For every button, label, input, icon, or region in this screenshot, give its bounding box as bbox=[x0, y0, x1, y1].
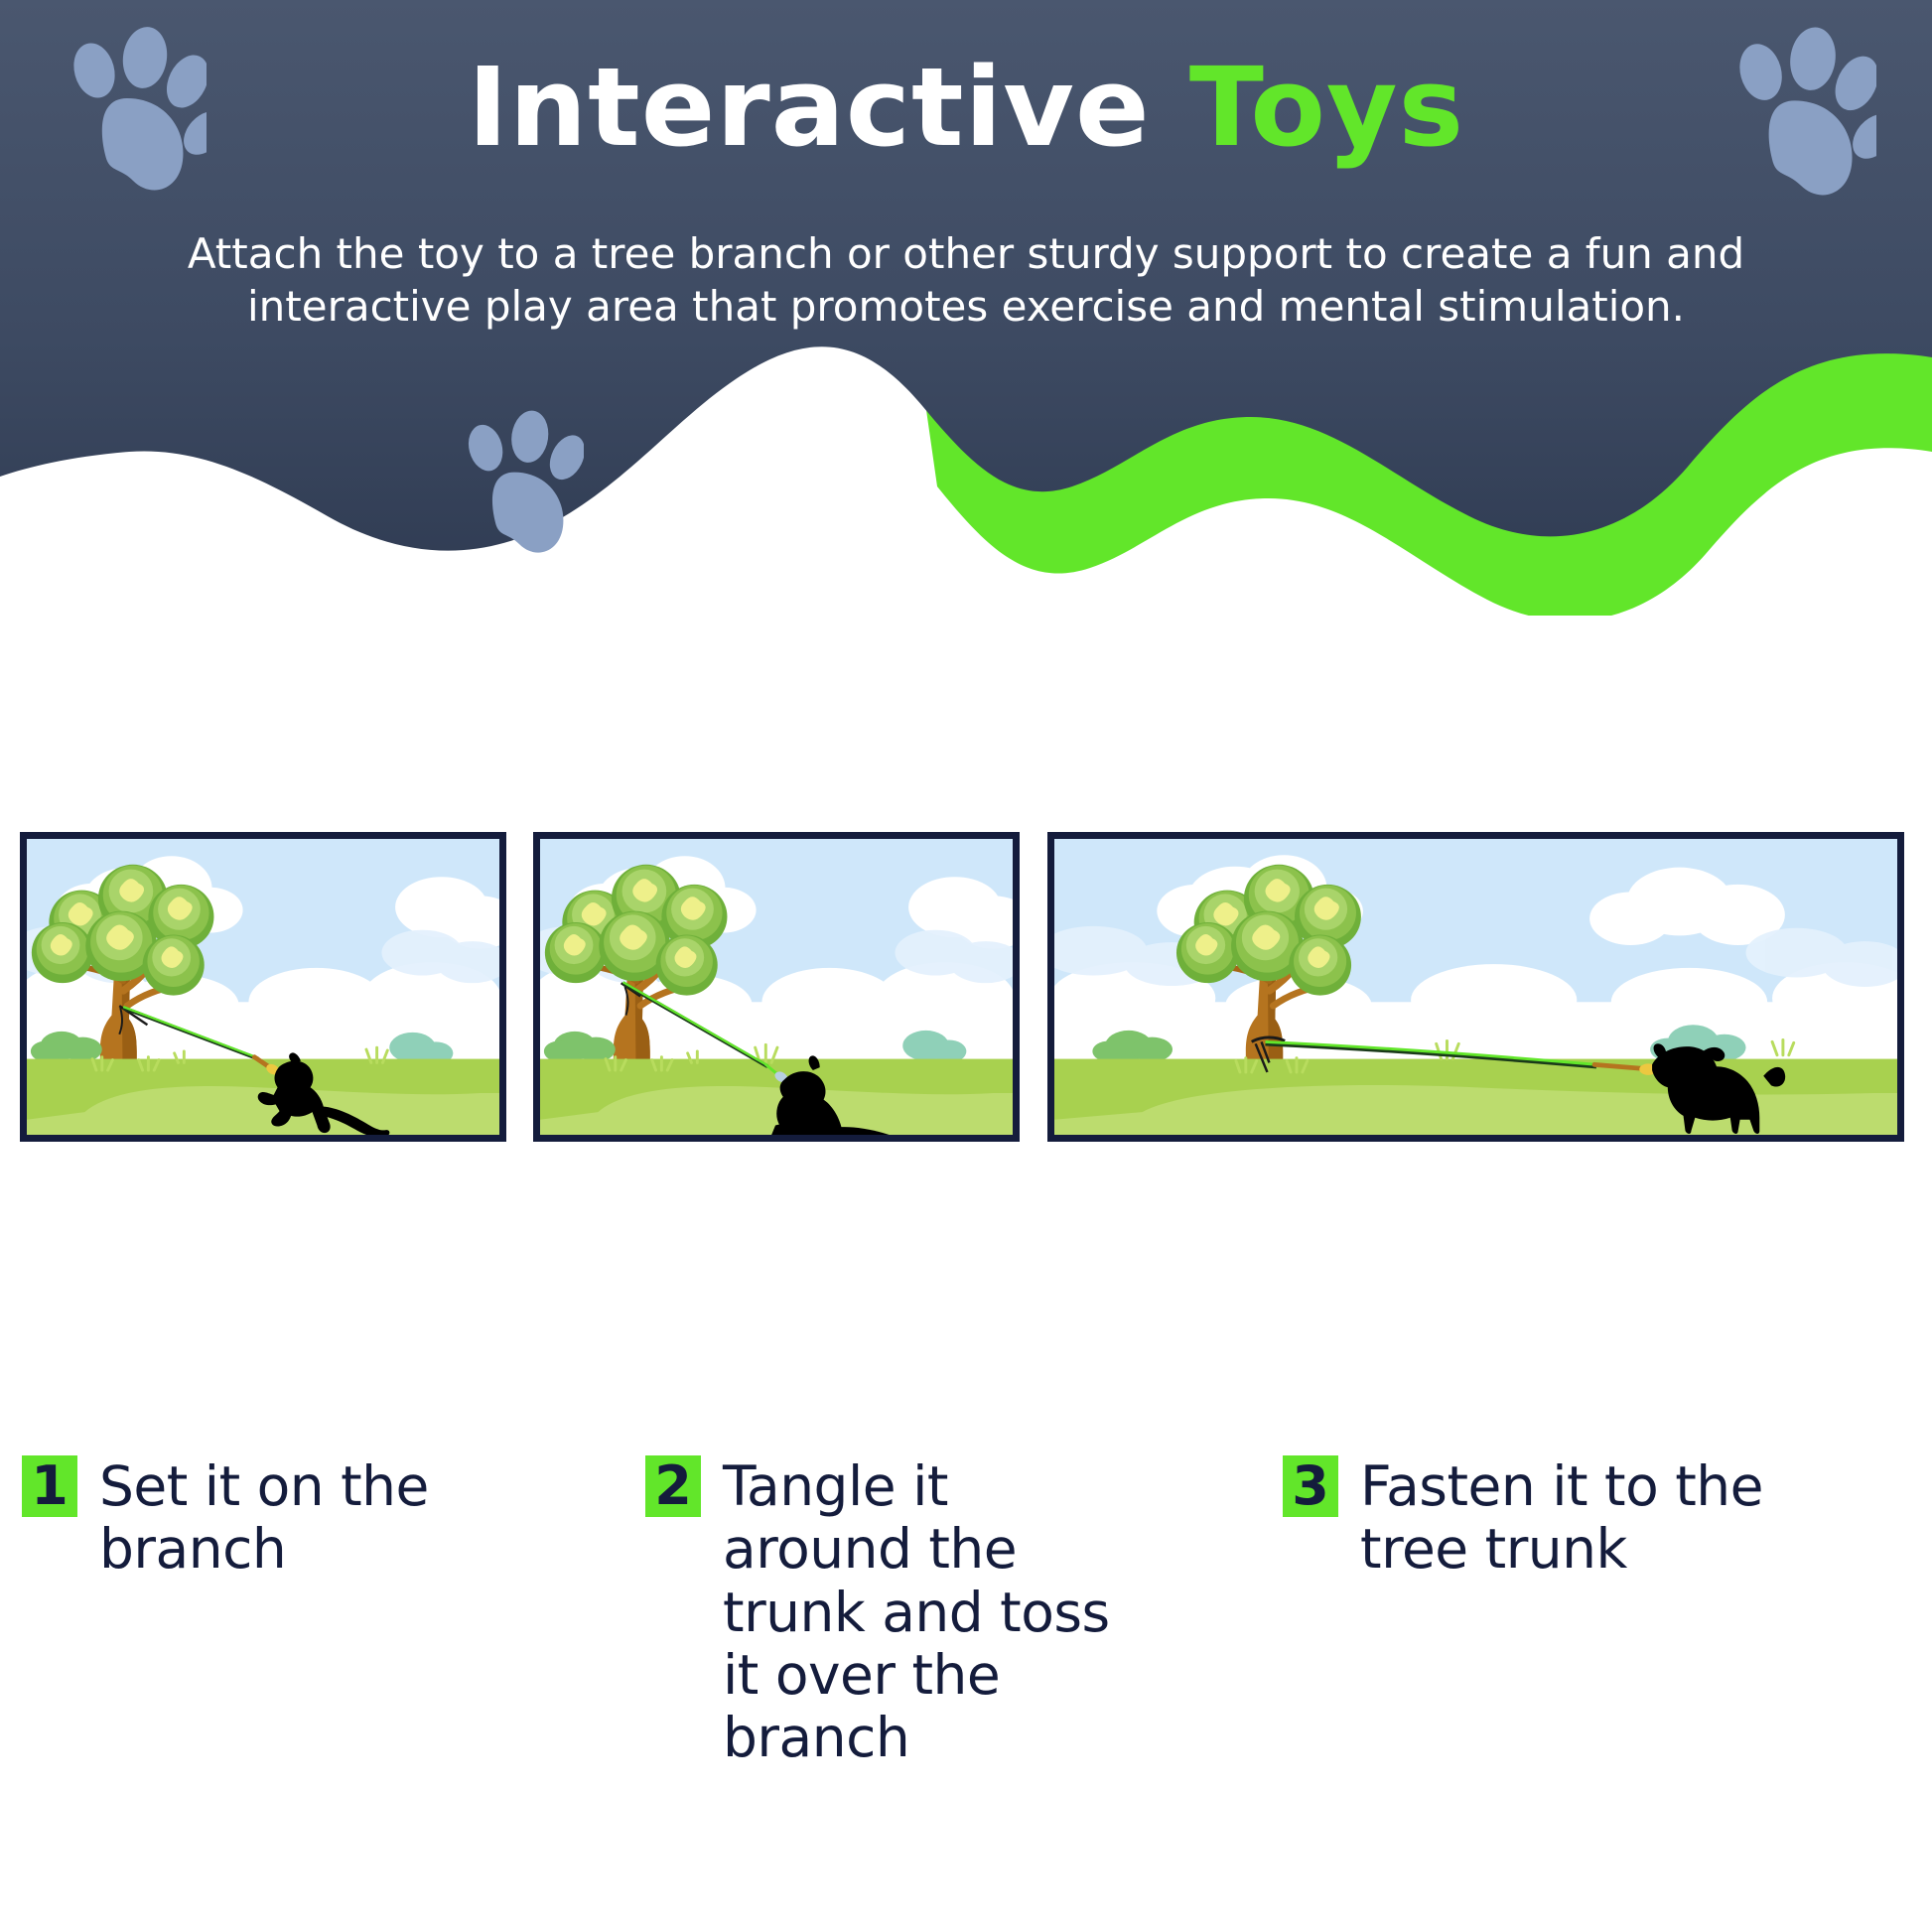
title-word-primary: Interactive bbox=[468, 44, 1151, 171]
step-label-text: Fasten it to the tree trunk bbox=[1360, 1455, 1839, 1582]
step-item-2: 2 Tangle it around the trunk and toss it… bbox=[645, 1455, 1142, 1769]
page-title: Interactive Toys bbox=[0, 48, 1932, 168]
step-item-1: 1 Set it on the branch bbox=[22, 1455, 518, 1582]
title-word-accent: Toys bbox=[1189, 44, 1464, 171]
step-item-3: 3 Fasten it to the tree trunk bbox=[1283, 1455, 1839, 1582]
header-banner: Interactive Toys Attach the toy to a tre… bbox=[0, 0, 1932, 616]
step-label-text: Tangle it around the trunk and toss it o… bbox=[723, 1455, 1142, 1769]
step-number-badge: 3 bbox=[1283, 1455, 1338, 1517]
paw-print-icon bbox=[445, 397, 584, 556]
step-number-badge: 2 bbox=[645, 1455, 701, 1517]
illustration-panels bbox=[0, 832, 1932, 1160]
step-label-text: Set it on the branch bbox=[99, 1455, 518, 1582]
panel-step-3 bbox=[1047, 832, 1904, 1142]
panel-step-2 bbox=[533, 832, 1020, 1142]
panel-step-1 bbox=[20, 832, 506, 1142]
page-subtitle: Attach the toy to a tree branch or other… bbox=[129, 228, 1803, 333]
step-number-badge: 1 bbox=[22, 1455, 77, 1517]
